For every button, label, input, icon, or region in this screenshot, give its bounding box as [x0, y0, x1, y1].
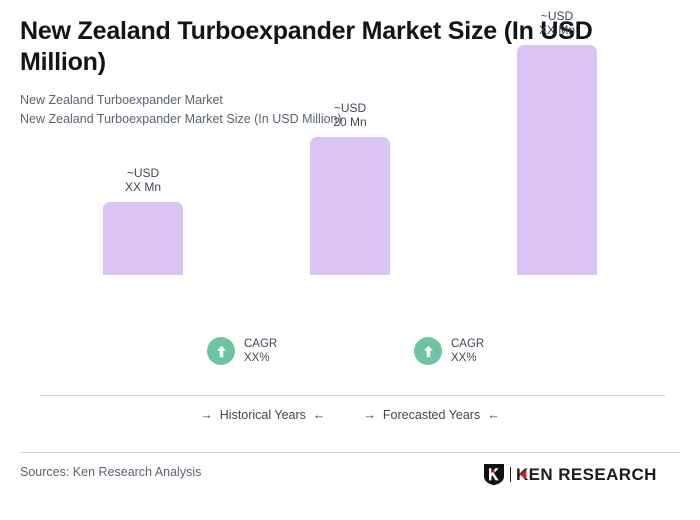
arrow-right-icon: →	[200, 409, 213, 422]
legend-item-historical-years: → Historical Years ←	[200, 408, 325, 422]
sources-text: Sources: Ken Research Analysis	[20, 465, 201, 479]
period-legend: → Historical Years ← → Forecasted Years …	[0, 408, 700, 422]
cagr-value-1: XX%	[244, 351, 277, 365]
arrow-left-icon: ←	[487, 409, 500, 422]
legend-item-forecasted-years: → Forecasted Years ←	[363, 408, 499, 422]
brand-red-wedge-icon	[519, 469, 527, 480]
arrow-right-icon: →	[363, 409, 376, 422]
bar-value-label-1: ~USD XX Mn	[125, 166, 161, 194]
cagr-text-1: CAGR XX%	[244, 337, 277, 365]
cagr-text-2: CAGR XX%	[451, 337, 484, 365]
brand-logo: KEN RESEARCH	[483, 463, 657, 486]
legend-label-forecasted-years: Forecasted Years	[383, 408, 480, 422]
plot-area: ~USD XX Mn CAGR XX% ~USD 20 Mn	[0, 0, 700, 400]
brand-name-text: KEN RESEARCH	[516, 466, 657, 483]
bar-value-label-1-line2: XX Mn	[125, 180, 161, 194]
bar-2[interactable]	[310, 137, 390, 275]
bar-value-label-3: ~USD XX Mn	[539, 9, 575, 37]
chart-card: New Zealand Turboexpander Market Size (I…	[0, 0, 700, 520]
brand-divider	[510, 467, 511, 482]
cagr-badge-forecast[interactable]: CAGR XX%	[414, 337, 484, 365]
bar-value-label-2-line1: ~USD	[333, 101, 366, 115]
axis-baseline	[40, 395, 665, 396]
bar-value-label-3-line2: XX Mn	[539, 23, 575, 37]
bar-value-label-2: ~USD 20 Mn	[333, 101, 366, 129]
cagr-circle-1	[207, 337, 235, 365]
bar-1[interactable]	[103, 202, 183, 275]
bar-value-label-2-line2: 20 Mn	[333, 115, 366, 129]
bar-value-label-1-line1: ~USD	[125, 166, 161, 180]
cagr-label-1: CAGR	[244, 337, 277, 351]
bar-value-label-3-line1: ~USD	[539, 9, 575, 23]
ken-research-shield-icon	[483, 463, 505, 486]
legend-label-historical-years: Historical Years	[220, 408, 306, 422]
cagr-value-2: XX%	[451, 351, 484, 365]
footer-divider	[20, 452, 680, 453]
bar-3[interactable]	[517, 45, 597, 275]
arrow-up-icon	[423, 345, 434, 358]
cagr-circle-2	[414, 337, 442, 365]
brand-wordmark: KEN RESEARCH	[516, 466, 657, 483]
cagr-label-2: CAGR	[451, 337, 484, 351]
arrow-left-icon: ←	[313, 409, 326, 422]
arrow-up-icon	[216, 345, 227, 358]
cagr-badge-historical[interactable]: CAGR XX%	[207, 337, 277, 365]
